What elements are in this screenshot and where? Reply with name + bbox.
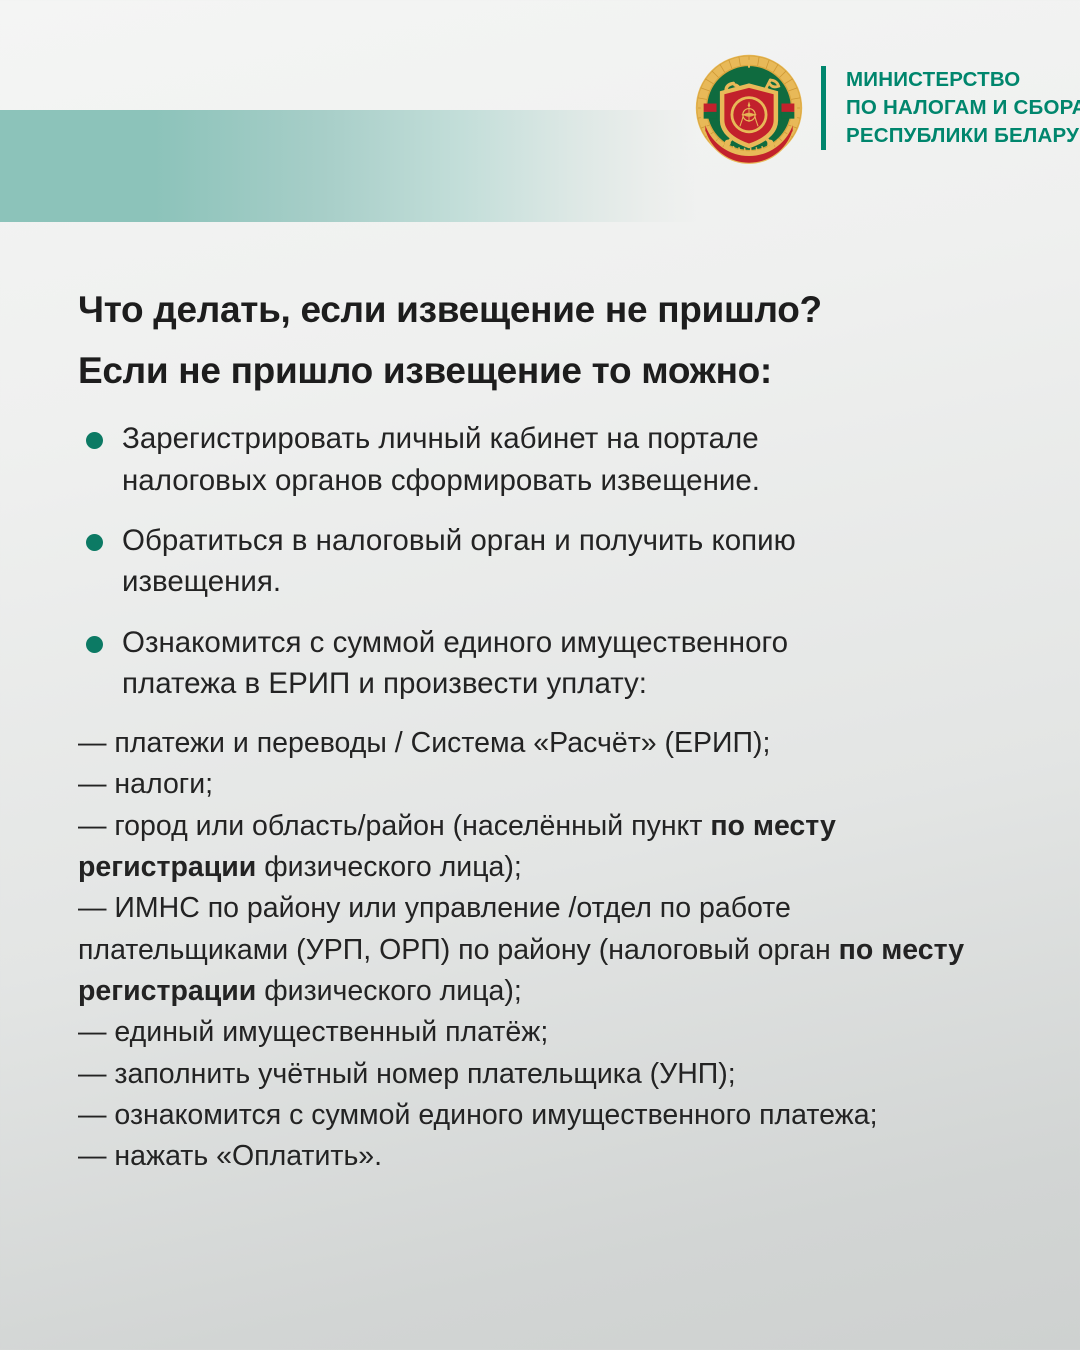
list-item: Обратиться в налоговый орган и получить … bbox=[78, 520, 908, 603]
ministry-name-line-3: РЕСПУБЛИКИ БЕЛАРУСЬ bbox=[846, 122, 1080, 150]
dash-list-item: — заполнить учётный номер плательщика (У… bbox=[78, 1054, 1008, 1095]
page-header: МИНИСТЕРСТВО ПО НАЛОГАМ И СБОРАМ РЕСПУБЛ… bbox=[0, 0, 1080, 240]
emphasis-text: по месту регистрации bbox=[78, 810, 836, 883]
list-item-label: Обратиться в налоговый орган и получить … bbox=[122, 524, 796, 598]
ministry-logo-block: МИНИСТЕРСТВО ПО НАЛОГАМ И СБОРАМ РЕСПУБЛ… bbox=[693, 48, 1033, 168]
emphasis-text: по месту регистрации bbox=[78, 934, 964, 1007]
ministry-name-line-2: ПО НАЛОГАМ И СБОРАМ bbox=[846, 94, 1080, 122]
dash-list-item: — город или область/район (населённый пу… bbox=[78, 806, 1008, 889]
bullet-dot-icon bbox=[86, 432, 103, 449]
header-teal-band bbox=[0, 110, 700, 222]
belarus-tax-ministry-emblem-icon bbox=[693, 52, 805, 164]
logo-divider bbox=[821, 66, 826, 150]
dash-list-item: — платежи и переводы / Система «Расчёт» … bbox=[78, 723, 1008, 764]
bullet-dot-icon bbox=[86, 534, 103, 551]
list-item: Зарегистрировать личный кабинет на порта… bbox=[78, 418, 908, 501]
main-content: Что делать, если извещение не пришло? Ес… bbox=[78, 288, 1018, 1178]
list-item: Ознакомится с суммой единого имущественн… bbox=[78, 622, 908, 705]
page-subtitle: Если не пришло извещение то можно: bbox=[78, 349, 1018, 393]
ministry-name-line-1: МИНИСТЕРСТВО bbox=[846, 66, 1080, 94]
dash-list: — платежи и переводы / Система «Расчёт» … bbox=[78, 723, 1018, 1177]
list-item-label: Ознакомится с суммой единого имущественн… bbox=[122, 626, 788, 700]
list-item-label: Зарегистрировать личный кабинет на порта… bbox=[122, 422, 760, 496]
dash-list-item: — нажать «Оплатить». bbox=[78, 1136, 1008, 1177]
dash-list-item: — налоги; bbox=[78, 764, 1008, 805]
page-title: Что делать, если извещение не пришло? bbox=[78, 288, 1018, 332]
ministry-name: МИНИСТЕРСТВО ПО НАЛОГАМ И СБОРАМ РЕСПУБЛ… bbox=[846, 66, 1080, 150]
dash-list-item: — единый имущественный платёж; bbox=[78, 1012, 1008, 1053]
bullet-dot-icon bbox=[86, 636, 103, 653]
dash-list-item: — ИМНС по району или управление /отдел п… bbox=[78, 888, 1008, 1012]
bullet-list: Зарегистрировать личный кабинет на порта… bbox=[78, 418, 1018, 704]
dash-list-item: — ознакомится с суммой единого имуществе… bbox=[78, 1095, 1008, 1136]
